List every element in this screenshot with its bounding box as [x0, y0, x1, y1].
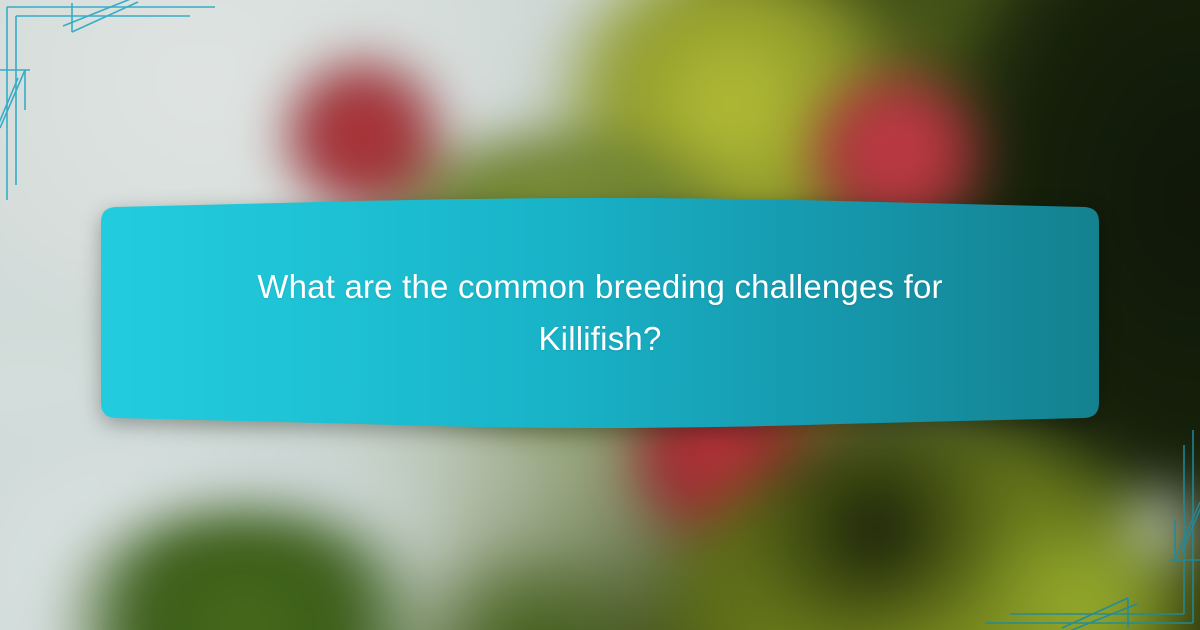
banner-text-block: What are the common breeding challenges …: [101, 190, 1099, 435]
question-title: What are the common breeding challenges …: [220, 261, 980, 365]
background-blob-fruit-left: [283, 60, 441, 210]
social-card: What are the common breeding challenges …: [0, 0, 1200, 630]
question-banner: What are the common breeding challenges …: [101, 190, 1099, 435]
